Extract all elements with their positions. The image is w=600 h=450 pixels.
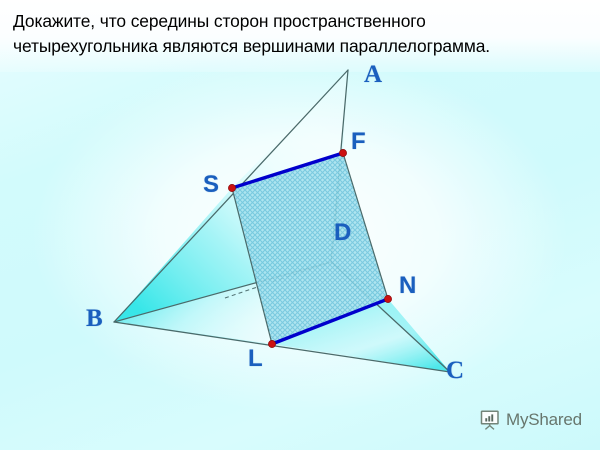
- vertex-label-f: F: [351, 129, 366, 154]
- slide-canvas: Докажите, что середины сторон пространст…: [0, 0, 600, 450]
- vertex-label-n: N: [399, 273, 416, 298]
- vertex-label-a: A: [364, 62, 382, 87]
- vertex-dot-n: [384, 295, 391, 302]
- vertex-label-b: B: [86, 306, 103, 331]
- vertex-dot-s: [228, 184, 235, 191]
- vertex-label-d: D: [334, 220, 351, 245]
- vertex-label-c: C: [446, 358, 464, 383]
- flipchart-chart-icon: [479, 409, 501, 431]
- vertex-label-l: L: [248, 346, 263, 371]
- geometry-figure: [0, 0, 600, 450]
- vertex-dot-f: [339, 149, 346, 156]
- watermark: MyShared: [479, 409, 582, 431]
- vertex-label-s: S: [203, 172, 219, 197]
- watermark-text: MyShared: [506, 410, 582, 430]
- vertex-dot-l: [268, 340, 275, 347]
